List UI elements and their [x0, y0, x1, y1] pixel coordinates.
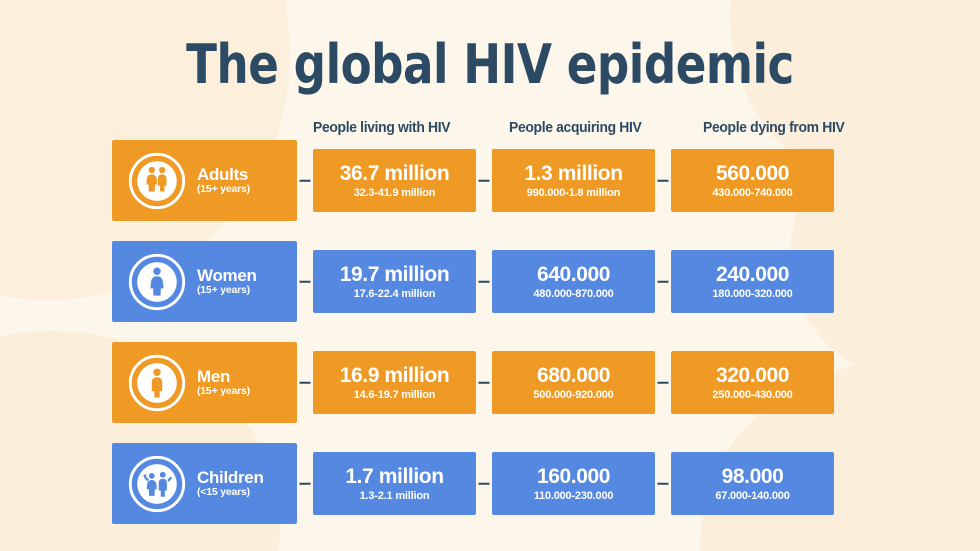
value-estimate: 1.7 million	[345, 465, 443, 488]
value-estimate: 240.000	[716, 263, 789, 286]
connector-dash	[658, 482, 669, 485]
table-row: Men(15+ years)16.9 million14.6-19.7 mill…	[112, 342, 870, 423]
value-range: 32.3-41.9 million	[354, 187, 436, 199]
value-estimate: 1.3 million	[524, 162, 622, 185]
value-cell: 160.000110.000-230.000	[492, 452, 655, 515]
column-header-acquiring: People acquiring HIV	[509, 120, 695, 136]
connector-dash	[300, 381, 311, 384]
value-range: 17.6-22.4 million	[354, 288, 436, 300]
value-estimate: 16.9 million	[340, 364, 450, 387]
group-label-text: Women(15+ years)	[197, 267, 257, 297]
infographic-canvas: The global HIV epidemic People living wi…	[0, 0, 980, 551]
connector-0	[297, 140, 313, 221]
connector-2	[655, 140, 671, 221]
value-cell: 680.000500.000-920.000	[492, 351, 655, 414]
group-label-box-men: Men(15+ years)	[112, 342, 297, 423]
value-range: 430.000-740.000	[712, 187, 792, 199]
column-headers: People living with HIV People acquiring …	[313, 120, 870, 136]
connector-0	[297, 443, 313, 524]
group-label-box-adults: Adults(15+ years)	[112, 140, 297, 221]
column-header-dying: People dying from HIV	[703, 120, 863, 136]
group-name: Adults	[197, 166, 250, 184]
connector-dash	[658, 381, 669, 384]
value-range: 990.000-1.8 million	[527, 187, 620, 199]
value-estimate: 320.000	[716, 364, 789, 387]
value-range: 500.000-920.000	[533, 389, 613, 401]
group-label-text: Adults(15+ years)	[197, 166, 250, 196]
group-age-range: (15+ years)	[197, 184, 250, 195]
group-label-box-women: Women(15+ years)	[112, 241, 297, 322]
group-label-text: Children(<15 years)	[197, 469, 264, 499]
value-estimate: 640.000	[537, 263, 610, 286]
connector-dash	[479, 381, 490, 384]
connector-dash	[300, 179, 311, 182]
value-estimate: 160.000	[537, 465, 610, 488]
column-header-living: People living with HIV	[313, 120, 501, 136]
man-icon	[128, 354, 186, 412]
value-cell: 19.7 million17.6-22.4 million	[313, 250, 476, 313]
connector-dash	[479, 179, 490, 182]
value-estimate: 98.000	[722, 465, 784, 488]
connector-dash	[479, 482, 490, 485]
page-title: The global HIV epidemic	[34, 33, 945, 96]
value-cell: 320.000250.000-430.000	[671, 351, 834, 414]
connector-2	[655, 241, 671, 322]
value-range: 14.6-19.7 million	[354, 389, 436, 401]
value-estimate: 36.7 million	[340, 162, 450, 185]
value-range: 250.000-430.000	[712, 389, 792, 401]
group-age-range: (15+ years)	[197, 386, 250, 397]
value-range: 110.000-230.000	[534, 490, 614, 502]
value-cell: 560.000430.000-740.000	[671, 149, 834, 212]
value-cell: 16.9 million14.6-19.7 million	[313, 351, 476, 414]
connector-dash	[300, 482, 311, 485]
value-range: 67.000-140.000	[715, 490, 789, 502]
connector-2	[655, 443, 671, 524]
value-cell: 36.7 million32.3-41.9 million	[313, 149, 476, 212]
children-icon	[128, 455, 186, 513]
value-estimate: 560.000	[716, 162, 789, 185]
connector-2	[655, 342, 671, 423]
connector-dash	[479, 280, 490, 283]
connector-1	[476, 342, 492, 423]
value-range: 1.3-2.1 million	[360, 490, 430, 502]
value-cell: 640.000480.000-870.000	[492, 250, 655, 313]
connector-0	[297, 241, 313, 322]
group-age-range: (<15 years)	[197, 487, 264, 498]
connector-dash	[658, 179, 669, 182]
value-range: 180.000-320.000	[712, 288, 792, 300]
connector-1	[476, 241, 492, 322]
value-cell: 240.000180.000-320.000	[671, 250, 834, 313]
value-estimate: 19.7 million	[340, 263, 450, 286]
value-range: 480.000-870.000	[533, 288, 613, 300]
value-estimate: 680.000	[537, 364, 610, 387]
group-label-box-children: Children(<15 years)	[112, 443, 297, 524]
group-age-range: (15+ years)	[197, 285, 257, 296]
table-row: Women(15+ years)19.7 million17.6-22.4 mi…	[112, 241, 870, 322]
connector-dash	[300, 280, 311, 283]
connector-1	[476, 140, 492, 221]
group-name: Men	[197, 368, 250, 386]
value-cell: 98.00067.000-140.000	[671, 452, 834, 515]
connector-0	[297, 342, 313, 423]
data-rows: Adults(15+ years)36.7 million32.3-41.9 m…	[112, 140, 870, 524]
value-cell: 1.3 million990.000-1.8 million	[492, 149, 655, 212]
group-label-text: Men(15+ years)	[197, 368, 250, 398]
table-row: Children(<15 years)1.7 million1.3-2.1 mi…	[112, 443, 870, 524]
table-row: Adults(15+ years)36.7 million32.3-41.9 m…	[112, 140, 870, 221]
value-cell: 1.7 million1.3-2.1 million	[313, 452, 476, 515]
connector-dash	[658, 280, 669, 283]
woman-icon	[128, 253, 186, 311]
connector-1	[476, 443, 492, 524]
adults-icon	[128, 152, 186, 210]
group-name: Children	[197, 469, 264, 487]
group-name: Women	[197, 267, 257, 285]
